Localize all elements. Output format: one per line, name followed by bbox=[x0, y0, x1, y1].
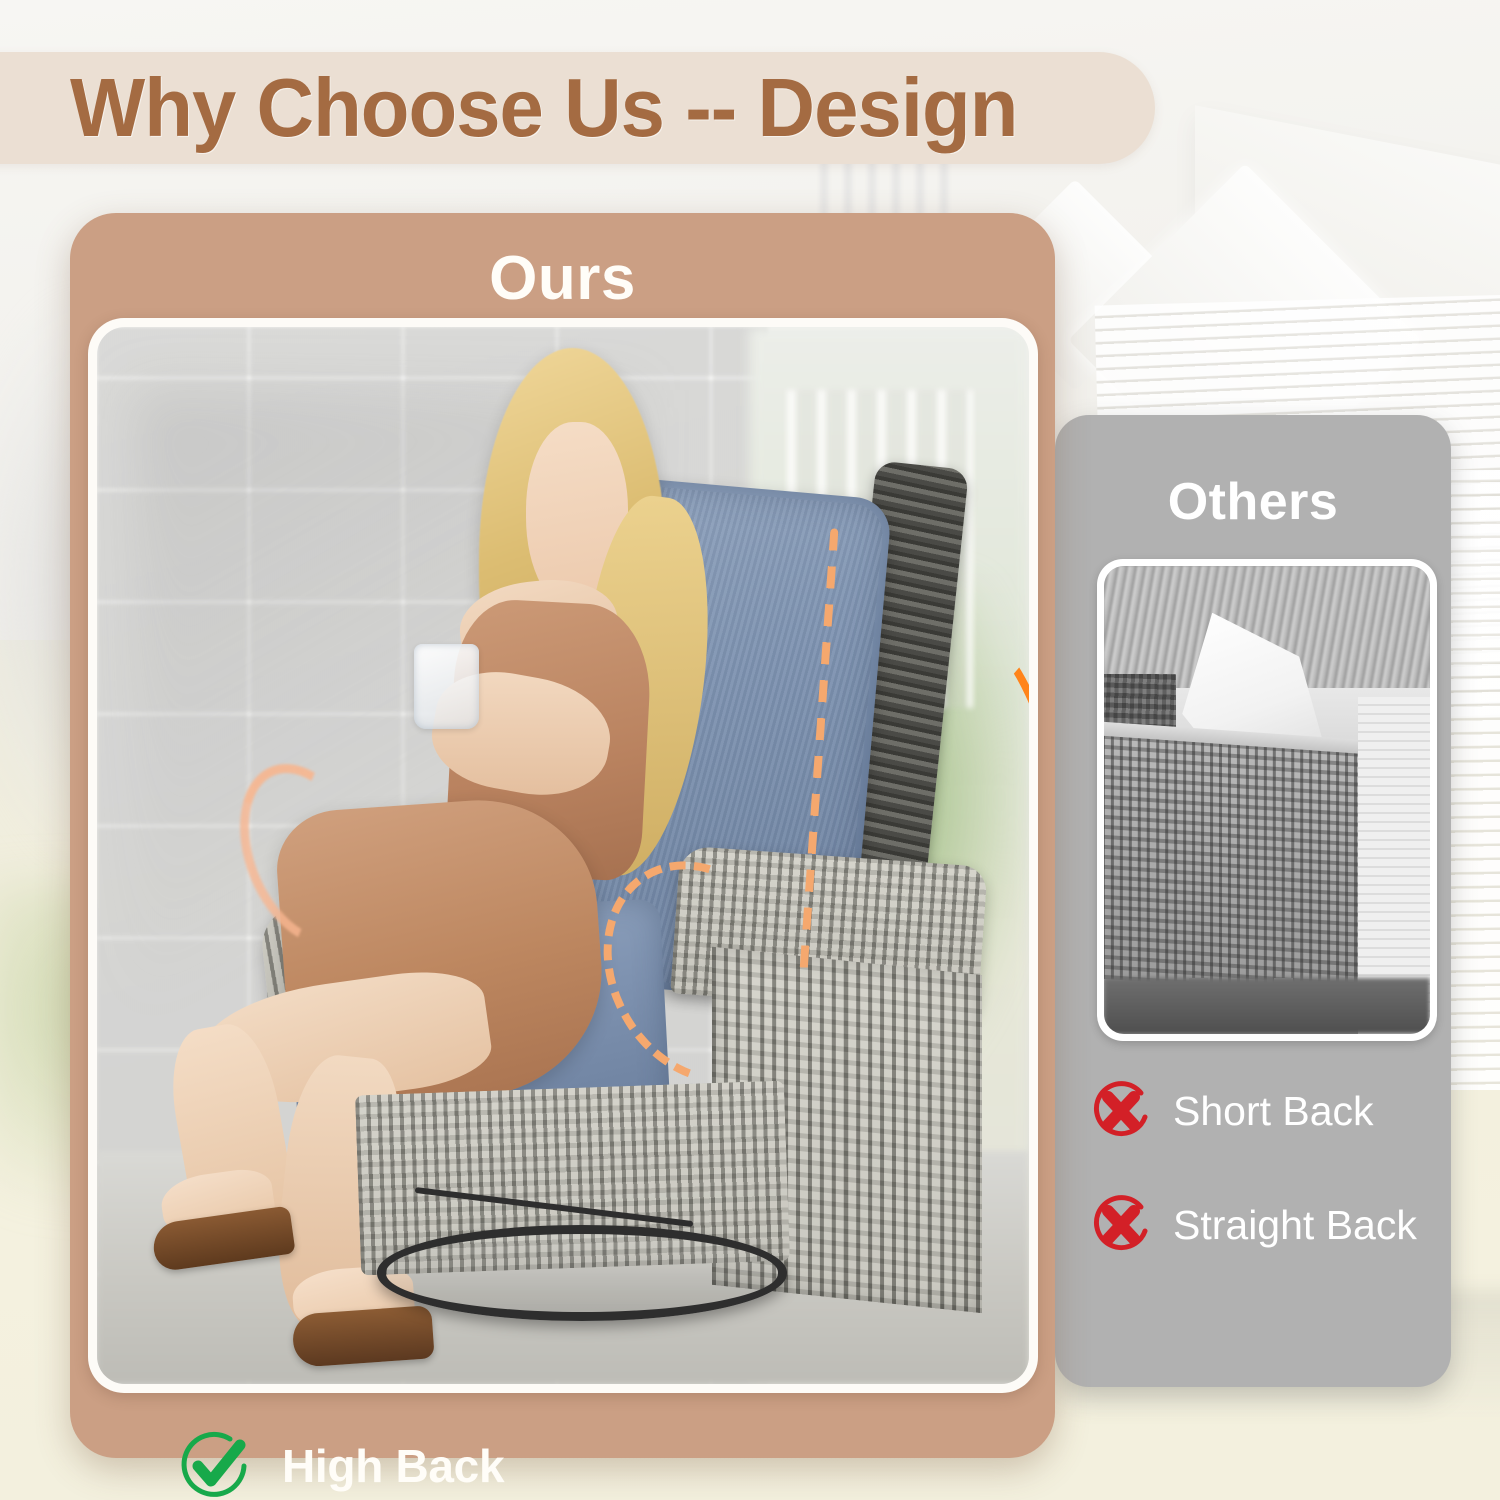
check-circle-icon bbox=[178, 1428, 254, 1500]
ours-heading: Ours bbox=[70, 243, 1055, 314]
model-sandal bbox=[291, 1305, 434, 1367]
others-bullet-label: Short Back bbox=[1173, 1088, 1374, 1135]
others-bullet-list: Short Back Straight Back bbox=[1087, 1077, 1483, 1305]
ours-photo-frame bbox=[88, 318, 1038, 1393]
others-bullet-short-back: Short Back bbox=[1087, 1077, 1483, 1145]
ours-photo bbox=[97, 327, 1029, 1384]
others-heading: Others bbox=[1055, 472, 1451, 532]
drinking-glass bbox=[414, 644, 479, 729]
page-title: Why Choose Us -- Design bbox=[70, 60, 1017, 156]
swivel-base-ring bbox=[377, 1225, 787, 1320]
x-circle-icon bbox=[1087, 1191, 1155, 1259]
ours-bullet-label: High Back bbox=[282, 1439, 504, 1493]
others-sofa-body bbox=[1104, 734, 1358, 997]
others-bullet-straight-back: Straight Back bbox=[1087, 1191, 1483, 1259]
ours-bullet-high-back: High Back bbox=[178, 1428, 999, 1500]
x-circle-icon bbox=[1087, 1077, 1155, 1145]
others-photo-frame bbox=[1097, 559, 1437, 1041]
title-banner: Why Choose Us -- Design bbox=[0, 52, 1155, 164]
others-panel: Others Short Back bbox=[1055, 415, 1451, 1387]
others-photo-floor bbox=[1104, 978, 1430, 1034]
ours-panel: Ours bbox=[70, 213, 1055, 1458]
ours-bullet-list: High Back Ergnomic Curve Lumbar Support bbox=[178, 1428, 999, 1500]
others-photo bbox=[1104, 566, 1430, 1034]
others-bullet-label: Straight Back bbox=[1173, 1202, 1417, 1249]
